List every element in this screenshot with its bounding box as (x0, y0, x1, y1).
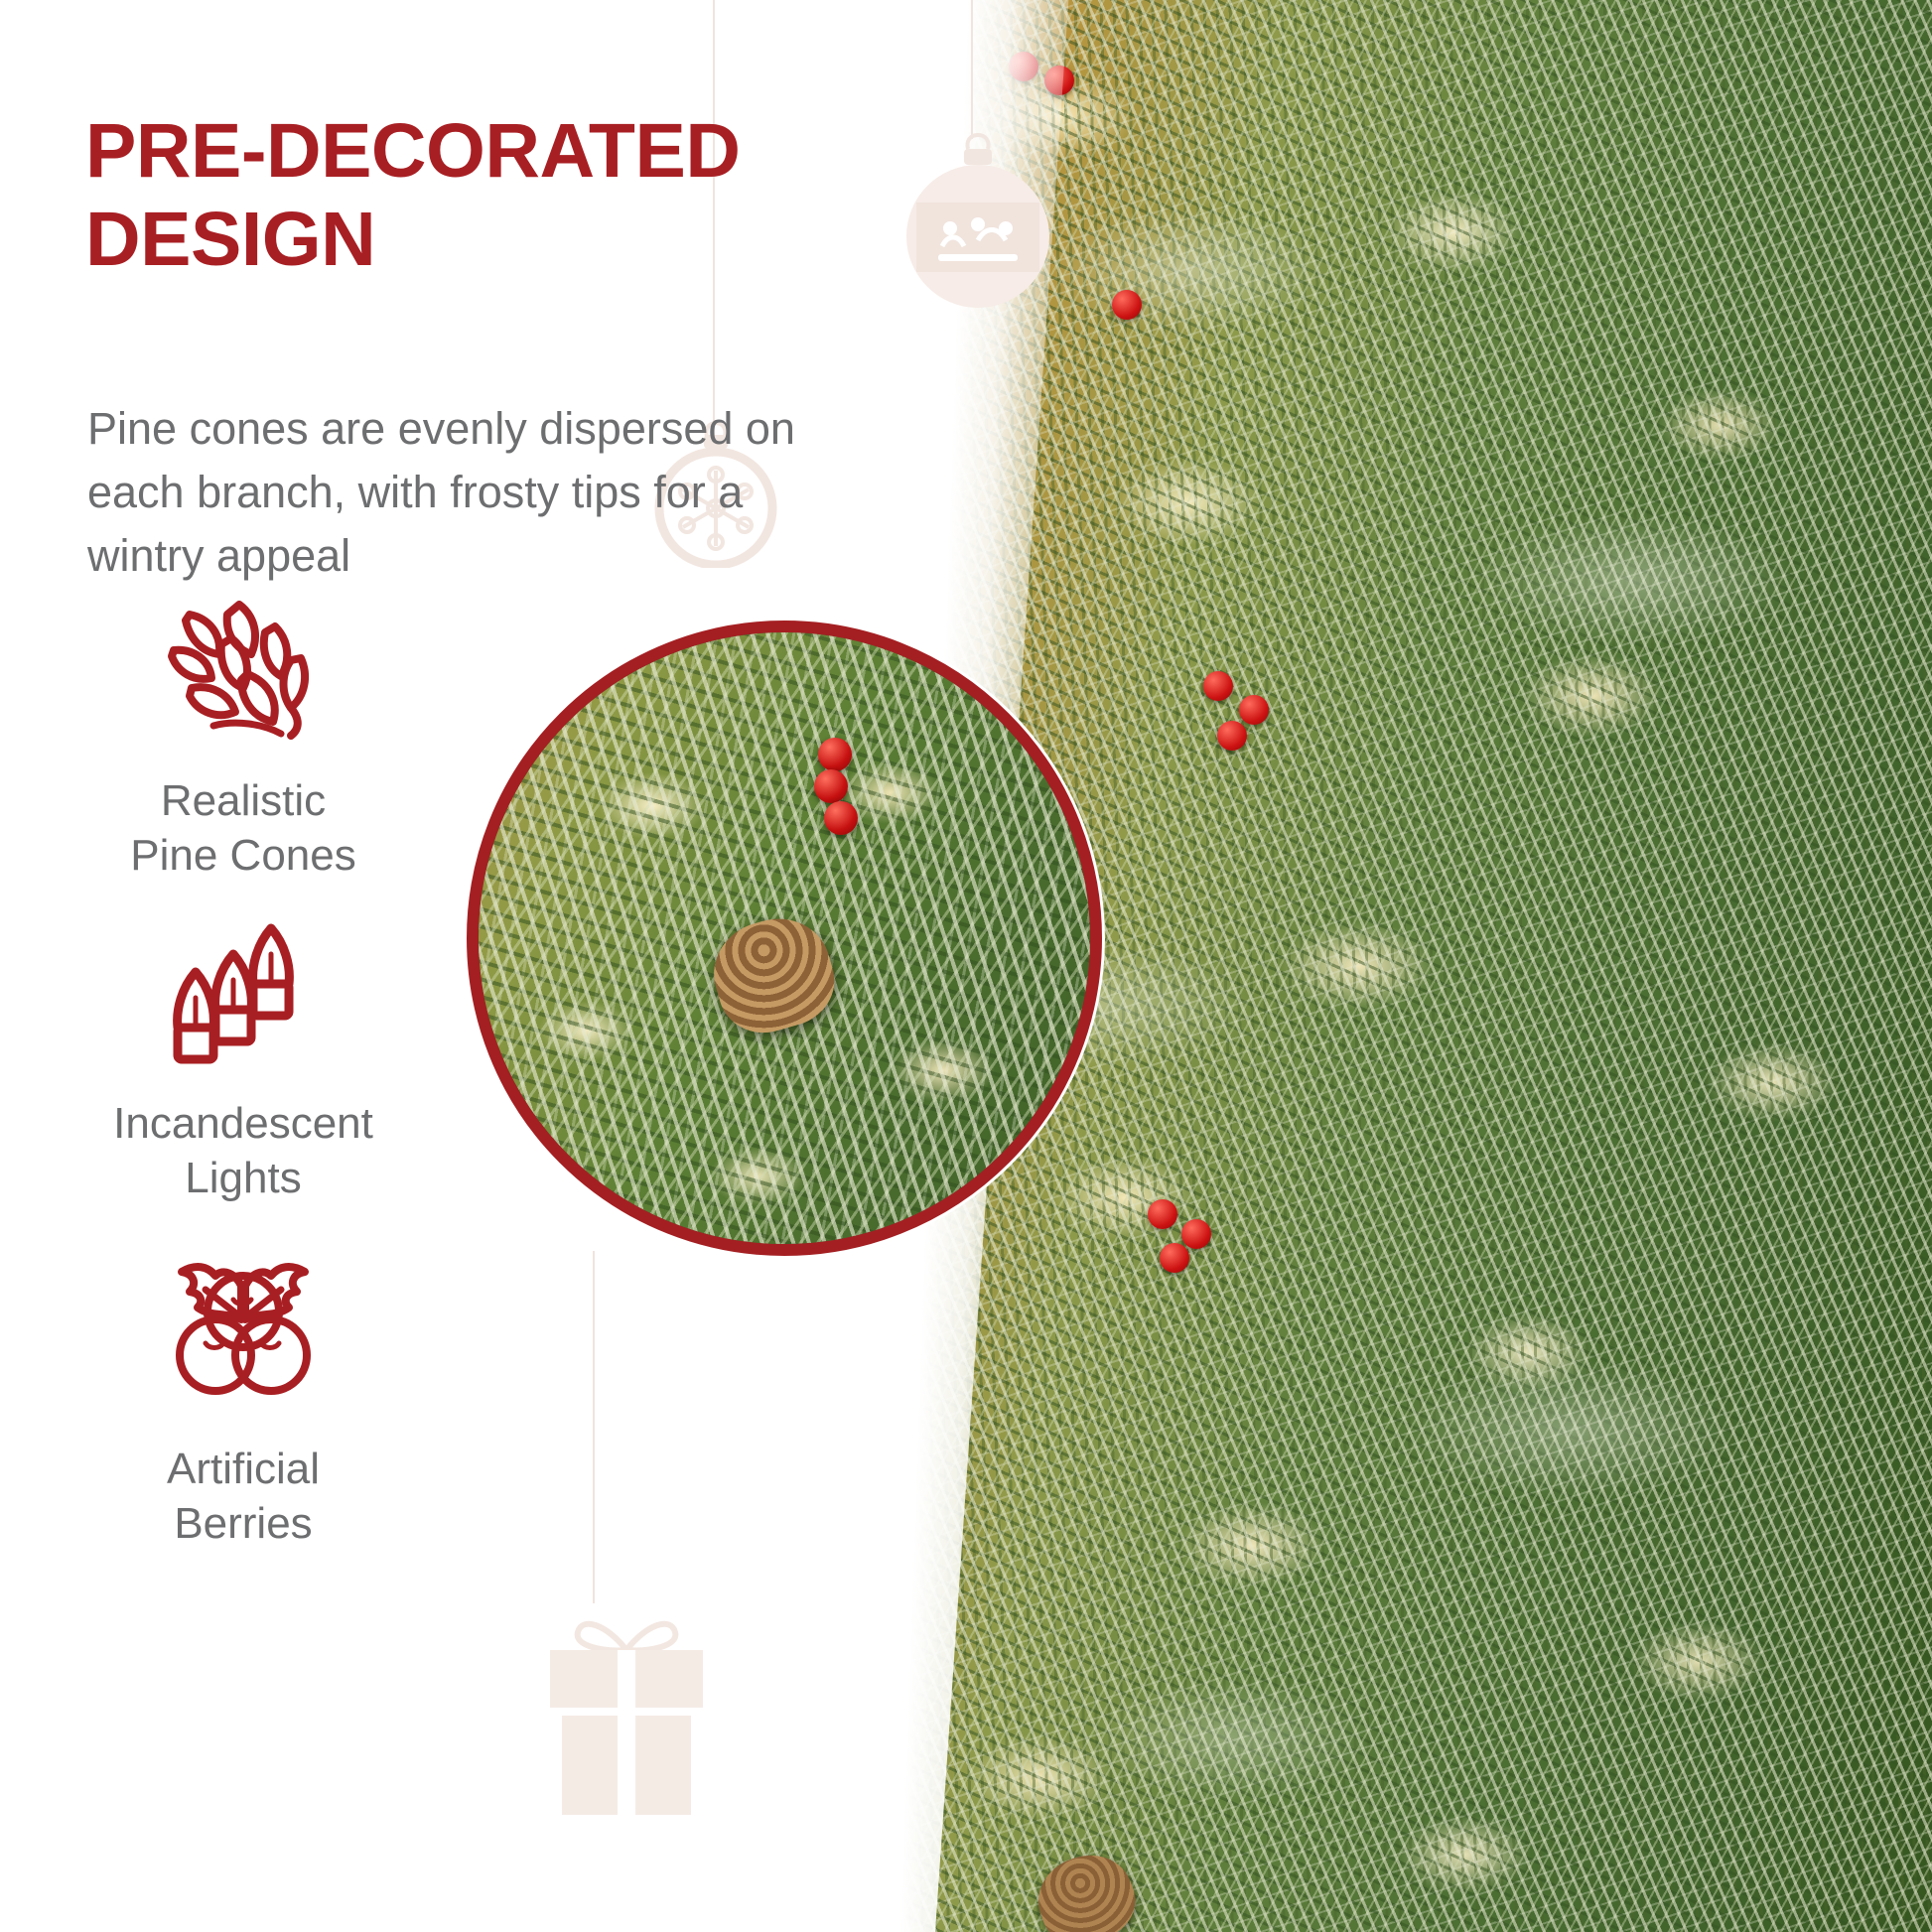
feature-label-line-1: Artificial (50, 1442, 437, 1496)
feature-label: Realistic Pine Cones (50, 773, 437, 884)
photo-berry (1217, 721, 1247, 751)
photo-berry (1203, 671, 1233, 701)
photo-berry (1148, 1199, 1177, 1229)
feature-artificial-berries: Artificial Berries (50, 1239, 437, 1552)
page-title: PRE-DECORATED DESIGN (85, 107, 860, 285)
headline-line-1: PRE-DECORATED (85, 107, 860, 196)
photo-berry (1181, 1219, 1211, 1249)
pine-cone-icon (50, 571, 437, 759)
holly-berries-icon (50, 1239, 437, 1428)
sleigh-ornament-watermark (898, 129, 1057, 318)
feature-realistic-pine-cones: Realistic Pine Cones (50, 571, 437, 884)
ornament-string-2 (971, 0, 973, 139)
feature-label-line-1: Realistic (50, 773, 437, 828)
christmas-lights-icon (50, 894, 437, 1082)
photo-berry (1112, 290, 1142, 320)
feature-label: Artificial Berries (50, 1442, 437, 1552)
feature-label-line-2: Berries (50, 1496, 437, 1551)
feature-label-line-1: Incandescent (50, 1096, 437, 1151)
photo-berry (1239, 695, 1269, 725)
headline-line-2: DESIGN (85, 196, 860, 284)
feature-label: Incandescent Lights (50, 1096, 437, 1206)
feature-label-line-2: Pine Cones (50, 828, 437, 883)
subtitle-text: Pine cones are evenly dispersed on each … (87, 397, 842, 588)
feature-incandescent-lights: Incandescent Lights (50, 894, 437, 1206)
photo-berry (1160, 1243, 1189, 1273)
feature-label-line-2: Lights (50, 1151, 437, 1205)
